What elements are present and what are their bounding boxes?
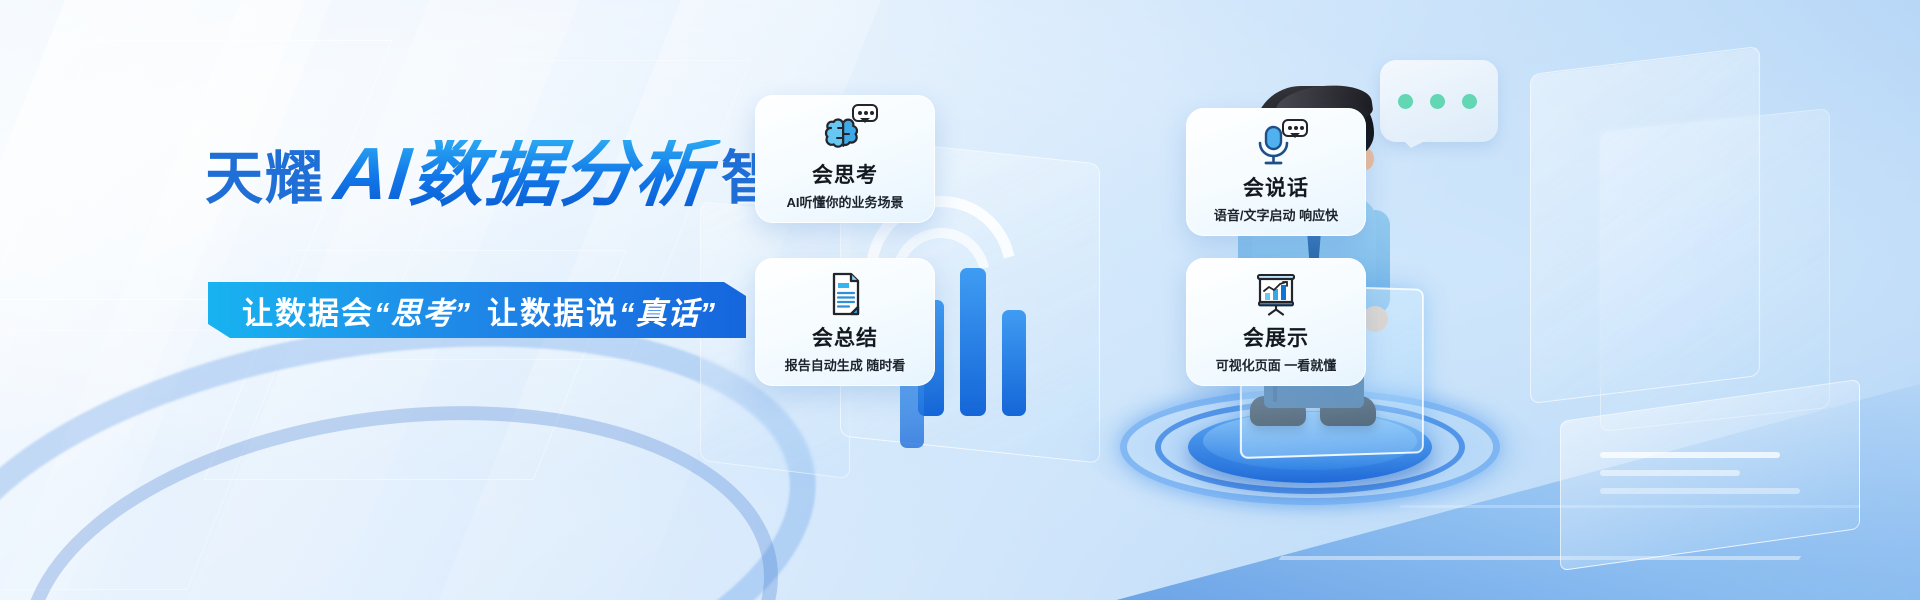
feature-card-think[interactable]: 会思考 AI听懂你的业务场景 xyxy=(755,95,935,223)
headline-prefix: 天耀 xyxy=(205,150,325,208)
subtitle-banner: 让数据会 “思考” 让数据说 “真话” xyxy=(208,282,746,338)
background-bar xyxy=(960,268,986,416)
monitor-line xyxy=(1600,452,1780,458)
microphone-icon xyxy=(1250,121,1302,167)
headline-highlight: AI数据分析 xyxy=(325,140,720,208)
feature-card-summarize[interactable]: 会总结 报告自动生成 随时看 xyxy=(755,258,935,386)
card-title: 会总结 xyxy=(812,322,878,352)
card-desc: AI听懂你的业务场景 xyxy=(786,192,903,211)
card-title: 会展示 xyxy=(1243,322,1309,352)
card-desc: 可视化页面 一看就懂 xyxy=(1216,355,1337,374)
feature-card-speak[interactable]: 会说话 语音/文字启动 响应快 xyxy=(1186,108,1366,236)
document-icon xyxy=(819,271,871,317)
card-title: 会说话 xyxy=(1243,172,1309,202)
brain-icon xyxy=(819,108,871,154)
background-bar xyxy=(1002,310,1026,416)
subtitle-part2: 让数据说 xyxy=(487,288,619,333)
card-desc: 语音/文字启动 响应快 xyxy=(1214,205,1338,224)
subtitle-part1: 让数据会 xyxy=(242,288,374,333)
monitor-line xyxy=(1600,488,1800,494)
subtitle-quoted2: “真话” xyxy=(619,288,716,333)
subtitle-quoted1: “思考” xyxy=(374,288,471,333)
speech-bubble-icon xyxy=(852,104,878,122)
monitor-line xyxy=(1600,470,1740,476)
floor-line xyxy=(1279,556,1802,560)
hero-banner: 天耀 AI数据分析 智能体 让数据会 “思考” 让数据说 “真话” xyxy=(0,0,1920,600)
glass-panel xyxy=(1530,46,1760,404)
feature-card-present[interactable]: 会展示 可视化页面 一看就懂 xyxy=(1186,258,1366,386)
speech-bubble-icon xyxy=(1282,119,1308,137)
presentation-chart-icon xyxy=(1250,271,1302,317)
card-desc: 报告自动生成 随时看 xyxy=(785,355,906,374)
card-title: 会思考 xyxy=(812,159,878,189)
